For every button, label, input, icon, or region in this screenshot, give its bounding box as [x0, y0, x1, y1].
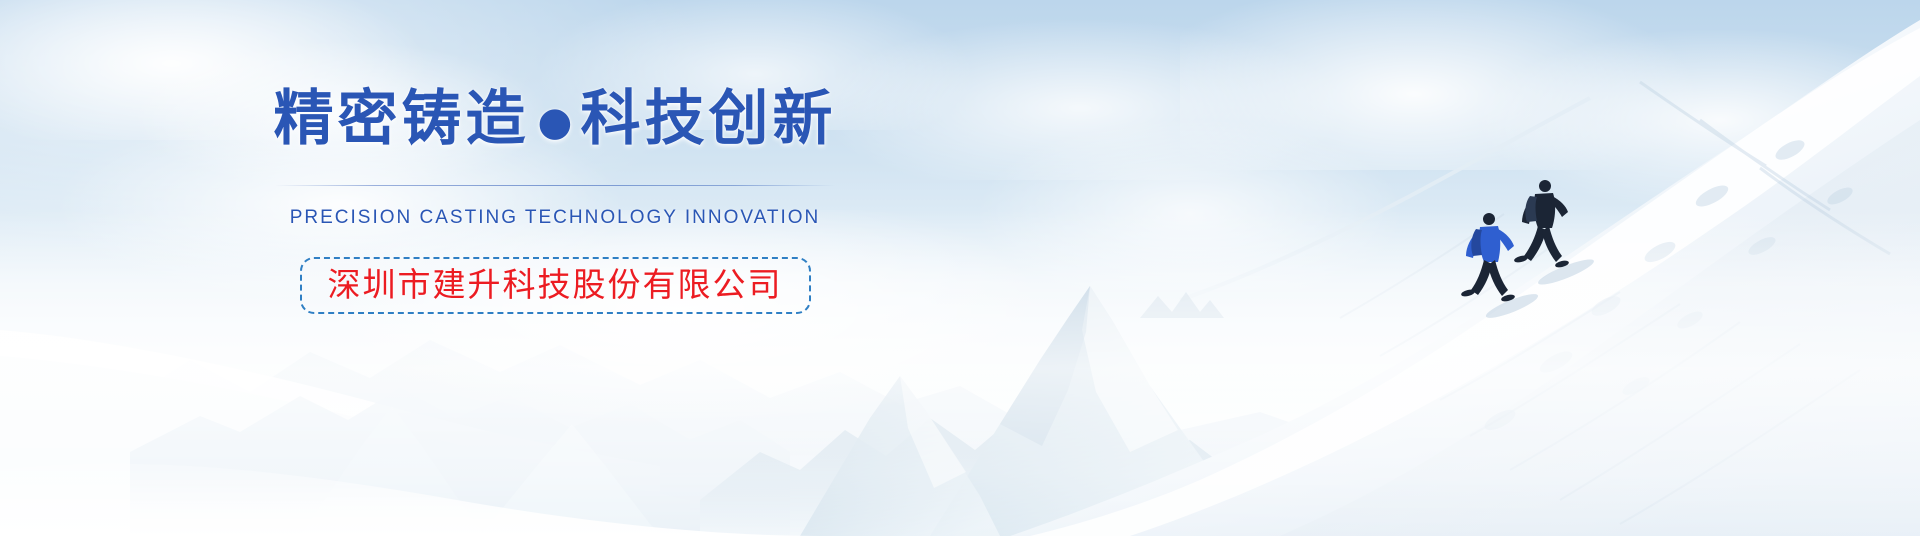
company-name: 深圳市建升科技股份有限公司 — [328, 265, 783, 304]
headline-right: 科技创新 — [580, 84, 836, 154]
hero-banner: 精密铸造●科技创新 PRECISION CASTING TECHNOLOGY I… — [0, 0, 1920, 536]
page-subtitle: PRECISION CASTING TECHNOLOGY INNOVATION — [0, 207, 1110, 229]
banner-copy: 精密铸造●科技创新 PRECISION CASTING TECHNOLOGY I… — [0, 86, 1110, 314]
divider — [275, 179, 835, 193]
headline-left: 精密铸造 — [274, 84, 530, 154]
divider-line — [275, 185, 835, 186]
bullet-separator-icon: ● — [530, 99, 581, 145]
page-title: 精密铸造●科技创新 — [0, 86, 1110, 153]
company-name-badge: 深圳市建升科技股份有限公司 — [300, 257, 811, 314]
